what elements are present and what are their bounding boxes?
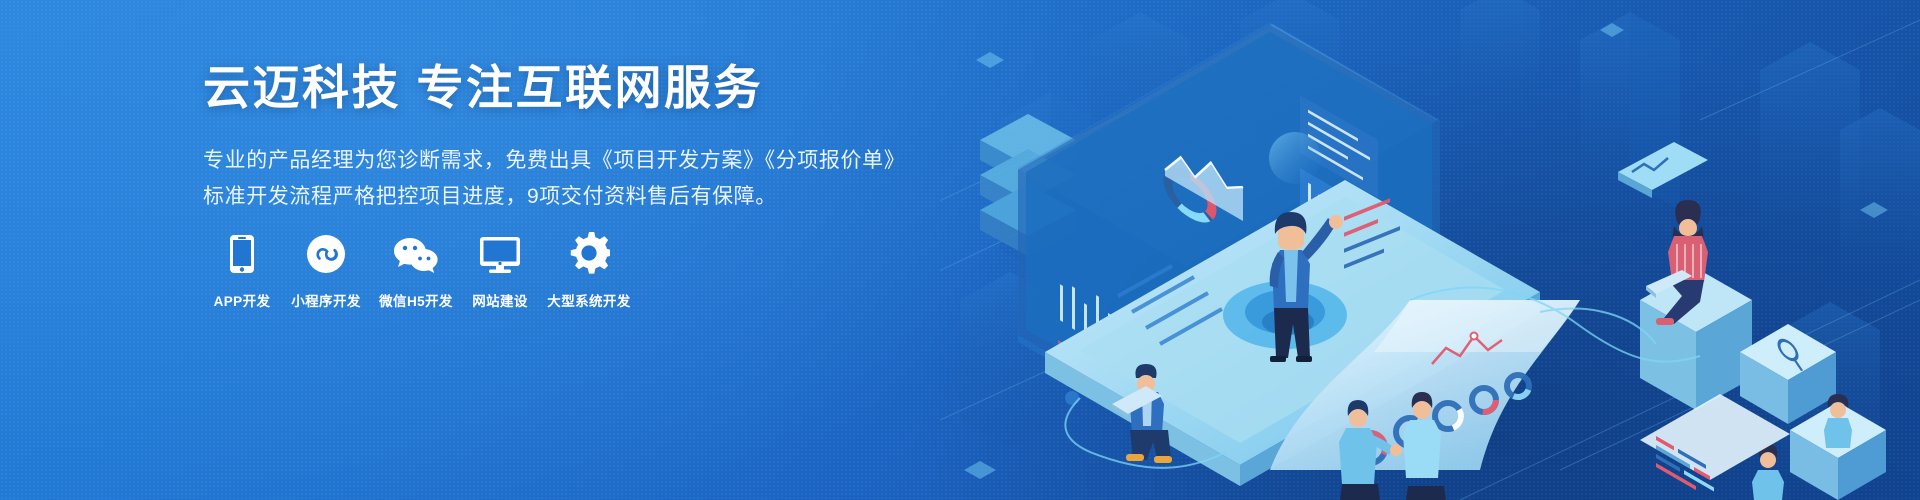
service-item-large-system[interactable]: 大型系统开发: [539, 228, 639, 310]
service-label: 小程序开发: [291, 290, 361, 310]
service-item-miniprogram[interactable]: 小程序开发: [281, 228, 371, 310]
monitor-icon: [479, 228, 521, 274]
banner-headline: 云迈科技 专注互联网服务: [203, 62, 923, 115]
gear-icon: [568, 228, 610, 274]
subtitle-line-2: 标准开发流程严格把控项目进度，9项交付资料售后有保障。: [203, 179, 923, 215]
illustration-isometric-dashboard: [940, 0, 1920, 500]
service-label: 大型系统开发: [547, 290, 630, 310]
service-label: APP开发: [214, 290, 271, 310]
wechat-icon: [393, 228, 439, 274]
touch-glow: [1269, 132, 1321, 184]
promo-banner: 云迈科技 专注互联网服务 专业的产品经理为您诊断需求，免费出具《项目开发方案》《…: [0, 0, 1920, 500]
service-item-wechat-h5[interactable]: 微信H5开发: [371, 228, 461, 310]
banner-subtitle: 专业的产品经理为您诊断需求，免费出具《项目开发方案》《分项报价单》 标准开发流程…: [203, 143, 923, 215]
mini-program-icon: [306, 228, 346, 274]
service-list: APP开发 小程序开发: [203, 228, 639, 310]
service-label: 网站建设: [472, 290, 528, 310]
banner-text-block: 云迈科技 专注互联网服务 专业的产品经理为您诊断需求，免费出具《项目开发方案》《…: [203, 62, 923, 215]
service-item-website[interactable]: 网站建设: [461, 228, 539, 310]
subtitle-line-1: 专业的产品经理为您诊断需求，免费出具《项目开发方案》《分项报价单》: [203, 149, 905, 172]
service-label: 微信H5开发: [379, 290, 453, 310]
person-woman-pedestal: [1640, 200, 1752, 410]
mobile-phone-icon: [229, 228, 255, 274]
service-item-app[interactable]: APP开发: [203, 228, 281, 310]
